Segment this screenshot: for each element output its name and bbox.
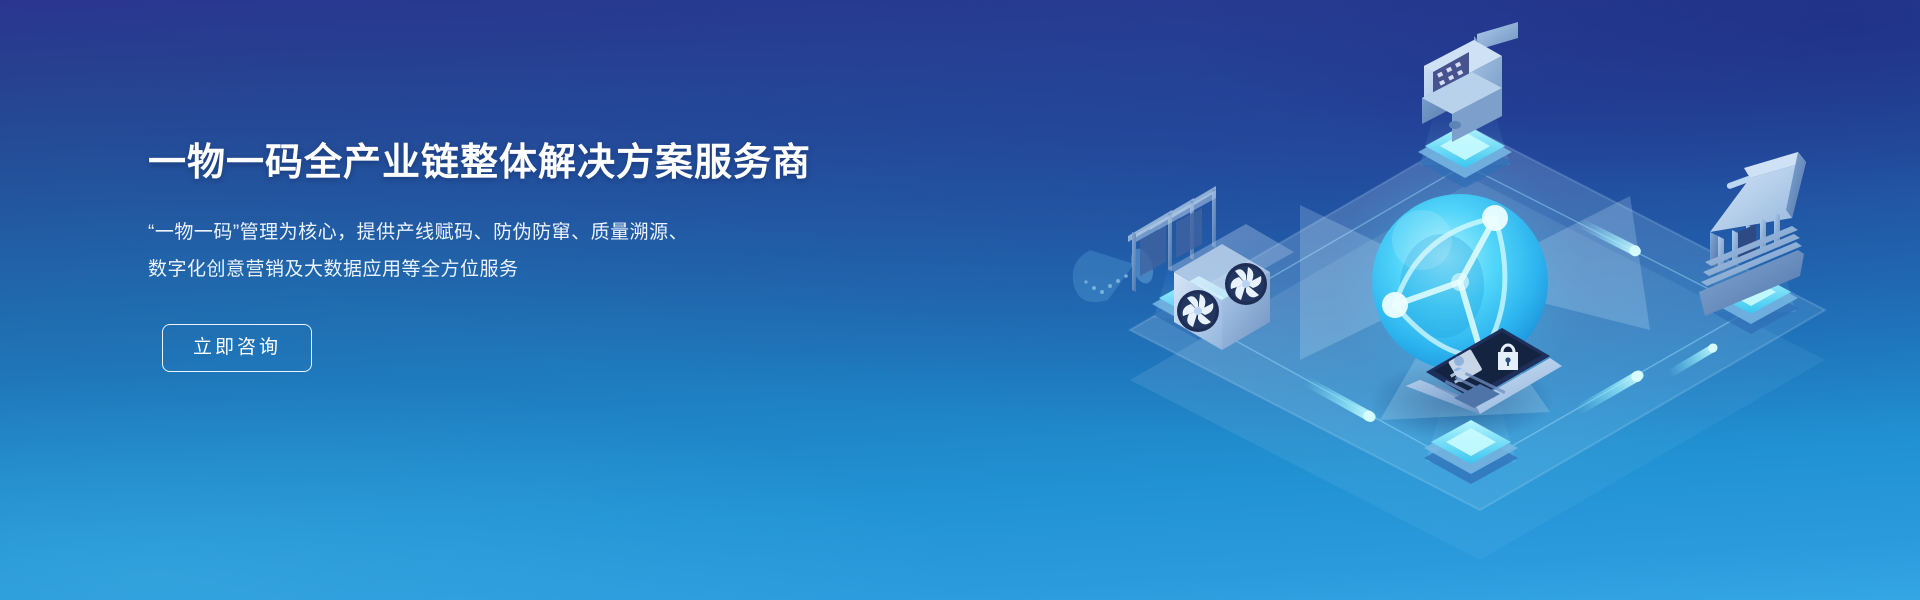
hero-subtitle: “一物一码”管理为核心，提供产线赋码、防伪防窜、质量溯源、 数字化创意营销及大数… (148, 214, 868, 288)
hero-illustration (1050, 0, 1920, 600)
consult-now-button[interactable]: 立即咨询 (162, 324, 312, 372)
hero-copy: 一物一码全产业链整体解决方案服务商 “一物一码”管理为核心，提供产线赋码、防伪防… (148, 140, 868, 372)
page-title: 一物一码全产业链整体解决方案服务商 (148, 140, 868, 188)
illustration-hit-area (1050, 0, 1920, 600)
hero-banner: 一物一码全产业链整体解决方案服务商 “一物一码”管理为核心，提供产线赋码、防伪防… (0, 0, 1920, 600)
hero-subtitle-line-2: 数字化创意营销及大数据应用等全方位服务 (148, 251, 868, 288)
hero-subtitle-line-1: “一物一码”管理为核心，提供产线赋码、防伪防窜、质量溯源、 (148, 214, 868, 251)
